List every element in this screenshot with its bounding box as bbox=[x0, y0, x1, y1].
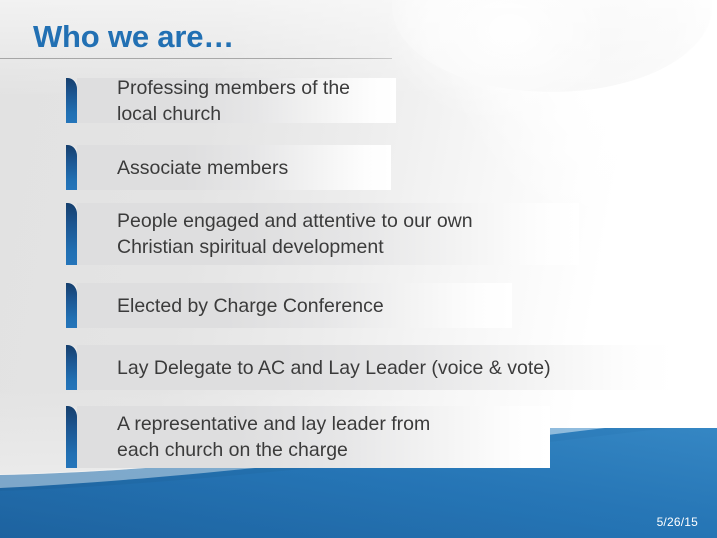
bullet-panel: People engaged and attentive to our own … bbox=[77, 203, 579, 265]
bullet-accent-bar bbox=[66, 203, 77, 265]
bullet-list: Professing members of the local church A… bbox=[0, 0, 717, 538]
bullet-text: Lay Delegate to AC and Lay Leader (voice… bbox=[77, 355, 559, 381]
list-item: Associate members bbox=[66, 145, 391, 190]
bullet-panel: Associate members bbox=[77, 145, 391, 190]
list-item: Lay Delegate to AC and Lay Leader (voice… bbox=[66, 345, 674, 390]
list-item: Elected by Charge Conference bbox=[66, 283, 512, 328]
bullet-accent-bar bbox=[66, 406, 77, 468]
bullet-panel: Professing members of the local church bbox=[77, 78, 396, 123]
bullet-text: Elected by Charge Conference bbox=[77, 293, 392, 319]
presentation-slide: Who we are… Professing members of the lo… bbox=[0, 0, 717, 538]
bullet-panel: A representative and lay leader from eac… bbox=[77, 406, 550, 468]
bullet-accent-bar bbox=[66, 145, 77, 190]
list-item: Professing members of the local church bbox=[66, 78, 396, 123]
bullet-accent-bar bbox=[66, 78, 77, 123]
bullet-accent-bar bbox=[66, 345, 77, 390]
bullet-text: Professing members of the local church bbox=[77, 75, 396, 127]
list-item: People engaged and attentive to our own … bbox=[66, 203, 579, 265]
bullet-accent-bar bbox=[66, 283, 77, 328]
bullet-text: A representative and lay leader from eac… bbox=[77, 411, 438, 463]
bullet-panel: Lay Delegate to AC and Lay Leader (voice… bbox=[77, 345, 674, 390]
list-item: A representative and lay leader from eac… bbox=[66, 406, 550, 468]
slide-date: 5/26/15 bbox=[657, 515, 698, 529]
bullet-text: Associate members bbox=[77, 155, 296, 181]
bullet-panel: Elected by Charge Conference bbox=[77, 283, 512, 328]
bullet-text: People engaged and attentive to our own … bbox=[77, 208, 481, 260]
